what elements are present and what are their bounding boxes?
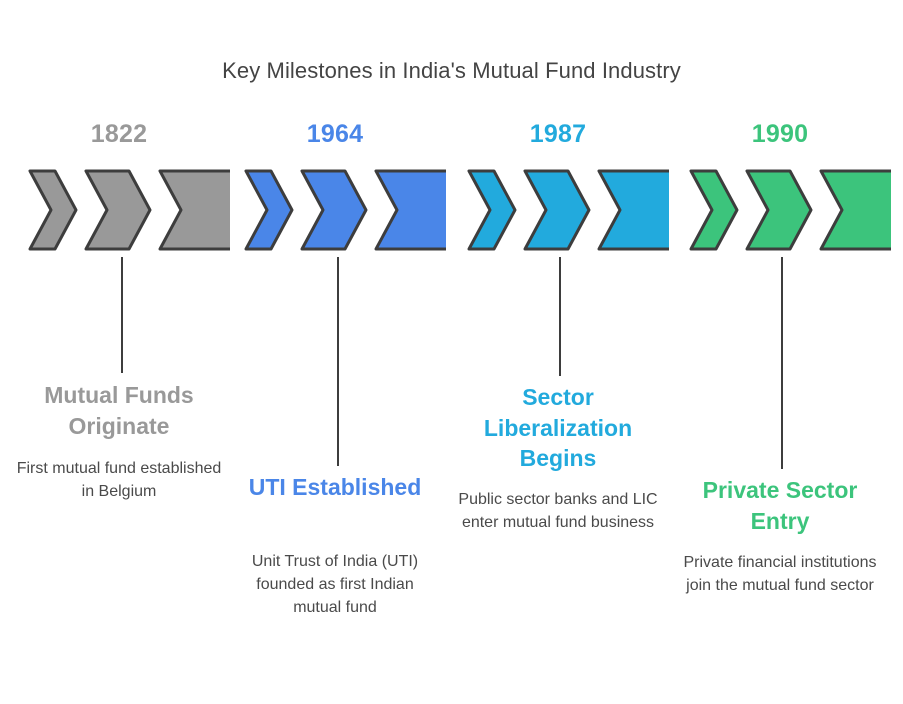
milestone-column-1987: 1987 Sector Liberalization Begins Public…	[447, 110, 669, 704]
milestone-connector-line	[337, 257, 339, 466]
milestone-connector-line	[559, 257, 561, 376]
page-title: Key Milestones in India's Mutual Fund In…	[0, 58, 903, 84]
milestone-heading: Private Sector Entry	[675, 475, 885, 536]
chevron-group-icon	[224, 168, 446, 252]
milestone-column-1990: 1990 Private Sector Entry Private financ…	[669, 110, 891, 704]
timeline-infographic: Key Milestones in India's Mutual Fund In…	[0, 0, 903, 704]
milestone-description: Private financial institutions join the …	[677, 551, 883, 597]
milestone-heading: Mutual Funds Originate	[14, 380, 224, 441]
chevron-group-icon	[447, 168, 669, 252]
milestone-year-label: 1990	[669, 120, 891, 149]
milestone-description: Unit Trust of India (UTI) founded as fir…	[232, 550, 438, 620]
milestone-connector-line	[781, 257, 783, 469]
milestone-heading: UTI Established	[230, 472, 440, 503]
chevron-group-icon	[669, 168, 891, 252]
milestone-connector-line	[121, 257, 123, 373]
milestone-description: Public sector banks and LIC enter mutual…	[455, 488, 661, 534]
milestone-year-label: 1822	[8, 120, 230, 149]
milestone-description: First mutual fund established in Belgium	[16, 457, 222, 503]
chevron-group-icon	[8, 168, 230, 252]
milestone-year-label: 1987	[447, 120, 669, 149]
milestone-column-1964: 1964 UTI Established Unit Trust of India…	[224, 110, 446, 704]
milestone-year-label: 1964	[224, 120, 446, 149]
milestone-column-1822: 1822 Mutual Funds Originate First mutual…	[8, 110, 230, 704]
milestone-heading: Sector Liberalization Begins	[453, 382, 663, 474]
milestone-columns: 1822 Mutual Funds Originate First mutual…	[0, 110, 903, 704]
